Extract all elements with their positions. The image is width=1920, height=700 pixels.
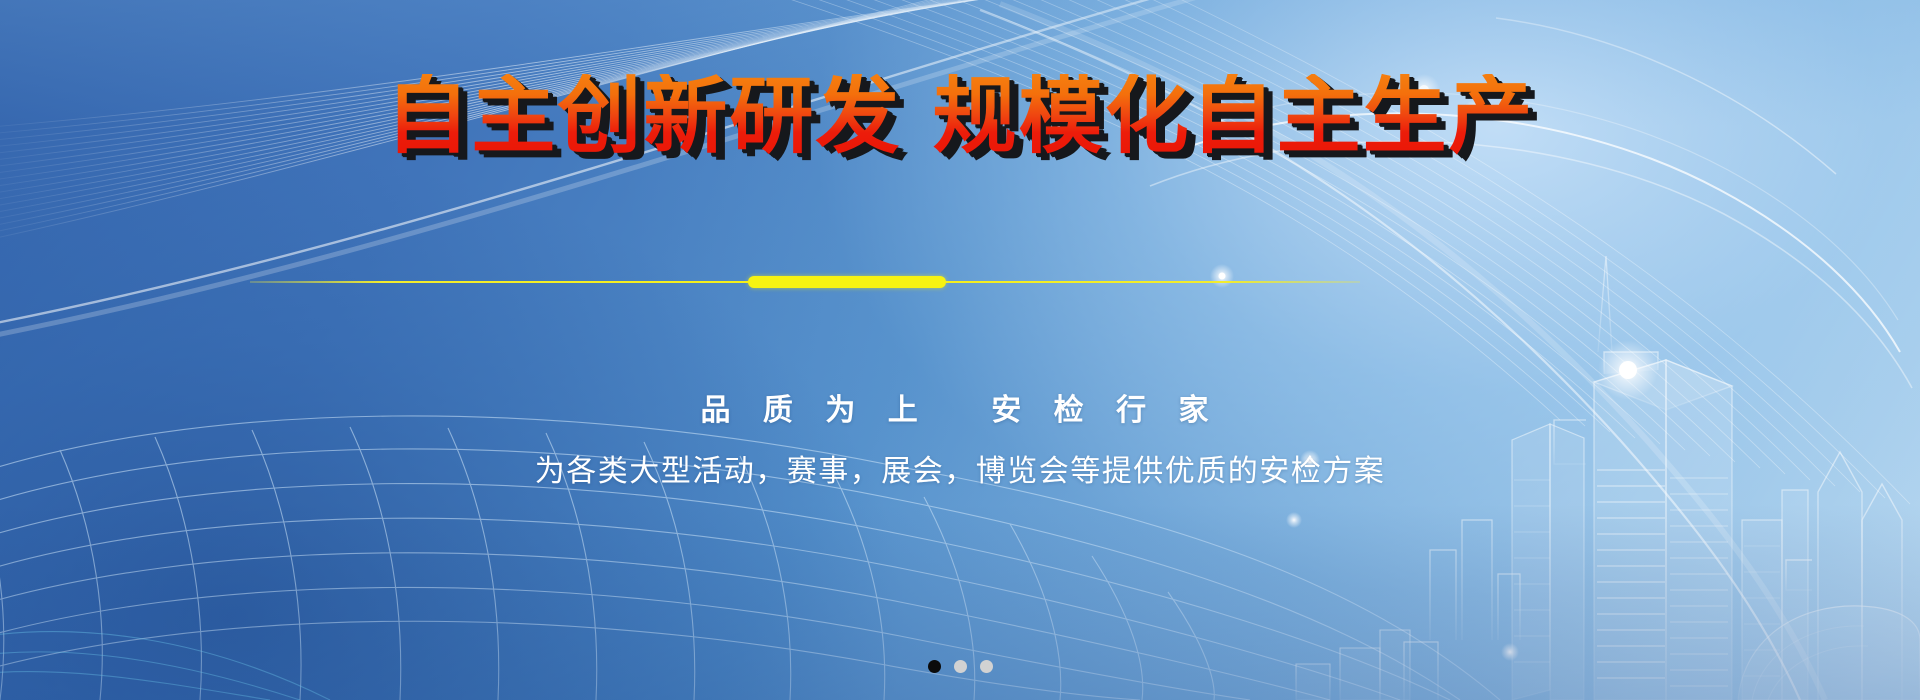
carousel-dot-1[interactable] (928, 660, 941, 673)
subtitle-secondary: 为各类大型活动，赛事，展会，博览会等提供优质的安检方案 (0, 452, 1920, 491)
carousel-dot-2[interactable] (954, 660, 967, 673)
divider-thick-bar (748, 276, 946, 288)
banner-vignette (0, 0, 1920, 700)
carousel-dot-3[interactable] (980, 660, 993, 673)
hero-banner: 自主创新研发 规模化自主生产 品 质 为 上 安 检 行 家 为各类大型活动，赛… (0, 0, 1920, 700)
subtitle-container: 品 质 为 上 安 检 行 家 为各类大型活动，赛事，展会，博览会等提供优质的安… (0, 392, 1920, 491)
carousel-pagination[interactable] (0, 660, 1920, 673)
subtitle-primary: 品 质 为 上 安 检 行 家 (0, 392, 1920, 430)
yellow-divider (250, 276, 1360, 288)
